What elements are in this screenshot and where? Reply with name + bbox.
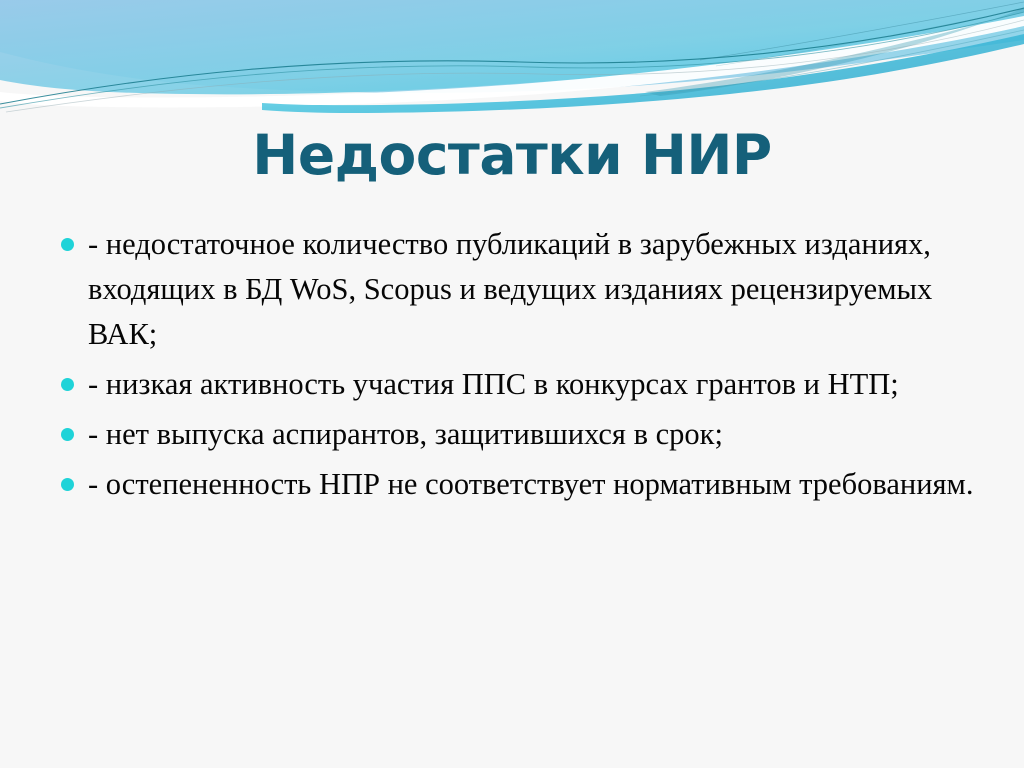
list-item-text: - нет выпуска аспирантов, защитившихся в… [88, 412, 975, 457]
list-item: - остепененность НПР не соответствует но… [55, 462, 975, 507]
list-item: - низкая активность участия ППС в конкур… [55, 362, 975, 407]
content-placeholder: - недостаточное количество публикаций в … [55, 222, 975, 507]
presentation-slide: Недостатки НИР - недостаточное количеств… [0, 0, 1024, 768]
slide-title: Недостатки НИР [0, 124, 1024, 186]
bullet-dot-icon [61, 378, 74, 391]
list-item: - недостаточное количество публикаций в … [55, 222, 975, 357]
bullet-dot-icon [61, 238, 74, 251]
title-placeholder: Недостатки НИР [0, 124, 1024, 186]
list-item: - нет выпуска аспирантов, защитившихся в… [55, 412, 975, 457]
bullet-dot-icon [61, 428, 74, 441]
bullet-dot-icon [61, 478, 74, 491]
list-item-text: - низкая активность участия ППС в конкур… [88, 362, 975, 407]
wave-banner-decoration [0, 0, 1024, 115]
list-item-text: - недостаточное количество публикаций в … [88, 222, 975, 357]
list-item-text: - остепененность НПР не соответствует но… [88, 462, 975, 507]
